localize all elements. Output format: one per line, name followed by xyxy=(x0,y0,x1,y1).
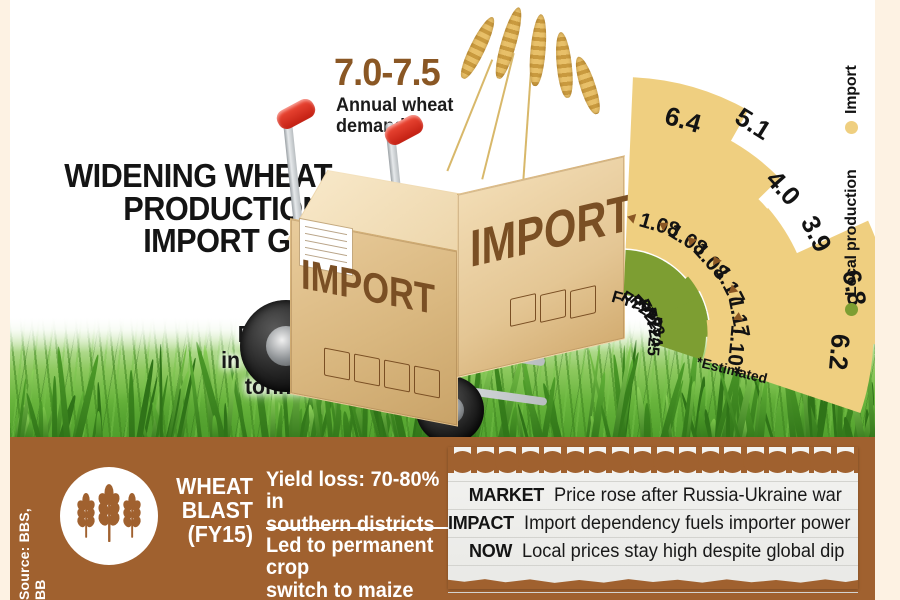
fy-label-fy25: FY25 xyxy=(642,315,665,356)
impact-value-market: Price rose after Russia-Ukraine war xyxy=(554,485,842,507)
fragile-glass-icon-side xyxy=(510,293,536,327)
handtruck-handle-right xyxy=(382,112,427,148)
impact-key-now: NOW xyxy=(448,541,522,562)
import-value-fy21: 5.1 xyxy=(729,101,776,146)
source-credit: Source: BBS, BB xyxy=(16,493,48,600)
impact-key-market: MARKET xyxy=(448,485,554,506)
value-marker-triangle xyxy=(626,212,636,224)
legend-label-local-production: Local production xyxy=(843,169,861,296)
this-side-up-icon xyxy=(354,353,380,386)
wheat-blast-point-1: Yield loss: 70-80% in southern districts xyxy=(266,469,447,536)
wheat-stalks-icon xyxy=(60,467,158,565)
infographic-frame: WIDENING WHEAT PRODUCTION, IMPORT GAP Fi… xyxy=(0,0,900,600)
keep-dry-icon-side xyxy=(570,285,596,319)
wheat-blast-title: WHEAT BLAST (FY15) xyxy=(174,475,253,547)
import-value-fy25: 6.2 xyxy=(822,333,856,372)
import-value-fy23: 3.9 xyxy=(794,211,838,257)
legend-label-import: Import xyxy=(843,65,861,114)
impact-value-now: Local prices stay high despite global di… xyxy=(522,541,844,563)
handtruck-import-box-illustration: IMPORT IMPORT xyxy=(238,100,583,440)
keep-dry-icon xyxy=(384,359,410,392)
impact-row-impact: IMPACT Import dependency fuels importer … xyxy=(448,509,858,537)
wheat-blast-divider xyxy=(266,527,448,529)
impact-key-impact: IMPACT xyxy=(448,513,524,534)
wheat-blast-point-2: Led to permanent crop switch to maize xyxy=(266,535,447,600)
import-value-fy20: 6.4 xyxy=(662,100,705,140)
notepad-perforation xyxy=(448,447,858,473)
import-value-fy22: 4.0 xyxy=(760,164,807,212)
impact-row-market: MARKET Price rose after Russia-Ukraine w… xyxy=(448,481,858,509)
legend-swatch-local-production xyxy=(846,303,859,316)
handtruck-handle-left xyxy=(274,96,319,132)
legend-item-import: Import xyxy=(843,44,861,134)
wheat-blast-badge xyxy=(60,467,158,565)
market-impact-notepad: MARKET Price rose after Russia-Ukraine w… xyxy=(448,447,858,589)
this-side-up-icon-side xyxy=(540,289,566,323)
bottom-panel: Source: BBS, BB xyxy=(10,437,875,600)
value-marker-triangle xyxy=(733,312,744,321)
legend-item-local-production: Local production xyxy=(843,146,861,316)
impact-value-impact: Import dependency fuels importer power xyxy=(524,513,850,535)
recycle-icon xyxy=(414,365,440,398)
annual-demand-value: 7.0-7.5 xyxy=(334,52,440,95)
impact-row-now: NOW Local prices stay high despite globa… xyxy=(448,537,858,565)
value-marker-triangle xyxy=(727,283,738,293)
legend-swatch-import xyxy=(846,121,859,134)
fragile-glass-icon xyxy=(324,347,350,380)
